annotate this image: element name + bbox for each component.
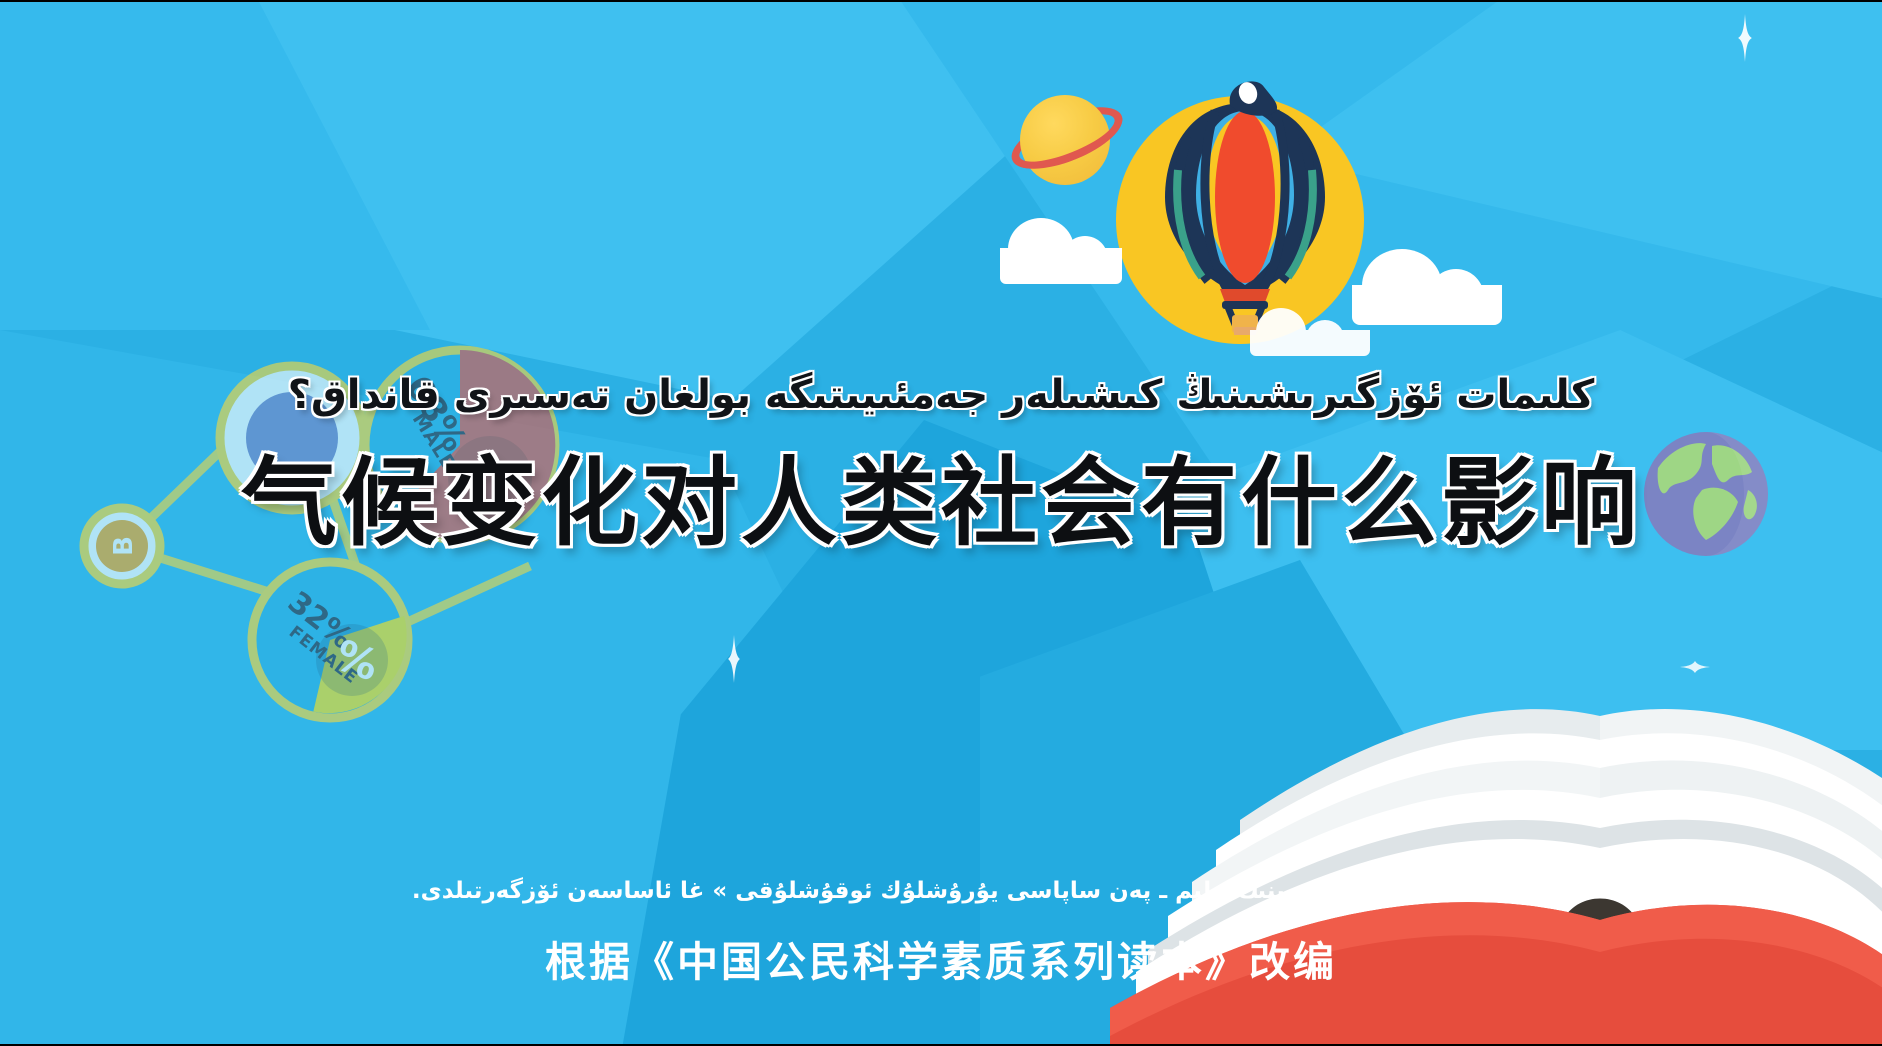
letterbox-top	[0, 0, 1882, 2]
saturn-planet-icon	[1010, 85, 1120, 195]
node-circle	[220, 366, 364, 510]
hot-air-balloon-icon	[1160, 75, 1330, 335]
cloud-icon	[1000, 248, 1122, 284]
infographic-overlay: B 68% MALE 32% FEMALE	[60, 330, 640, 750]
female-share-pie: 32% FEMALE %	[252, 562, 427, 721]
sparkle-icon	[1078, 240, 1088, 258]
cloud-icon	[1352, 285, 1502, 325]
cloud-icon	[1250, 330, 1370, 356]
node-b-badge: B	[84, 508, 160, 584]
sparkle-icon	[727, 635, 741, 688]
open-book-icon	[1040, 520, 1882, 1046]
male-share-pie: 68% MALE	[365, 350, 555, 540]
video-frame: B 68% MALE 32% FEMALE	[0, 0, 1882, 1046]
svg-text:B: B	[109, 536, 139, 556]
sparkle-icon	[1736, 14, 1754, 67]
